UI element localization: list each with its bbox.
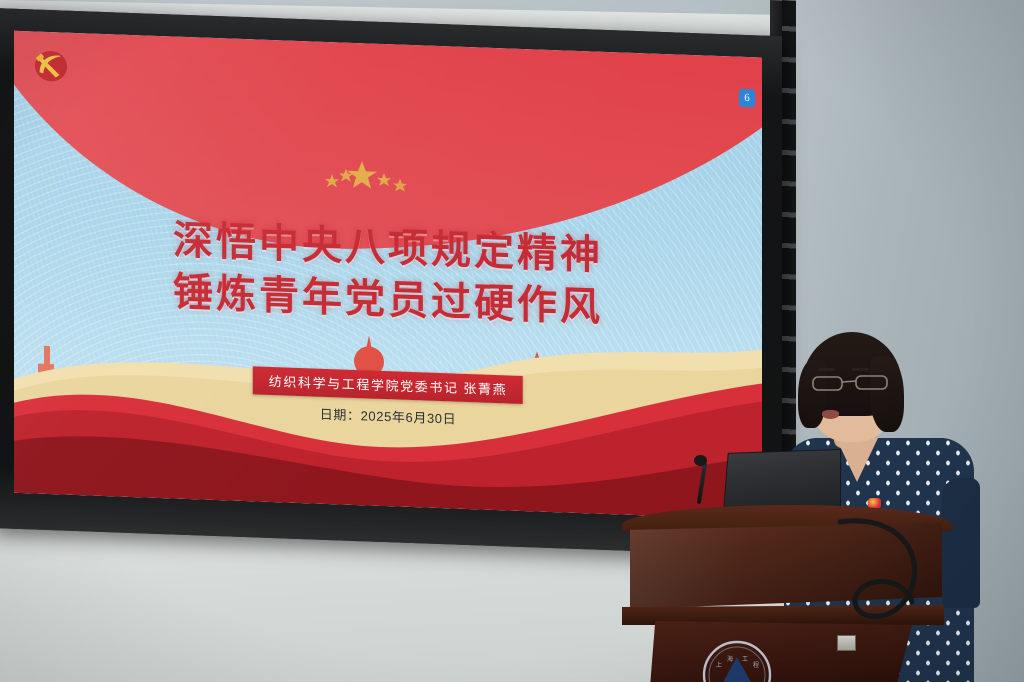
presenter-eyebrow-right [852, 368, 869, 371]
five-gold-stars-icon [310, 151, 420, 201]
microphone-cable [836, 518, 954, 628]
party-emblem-hammer-sickle-icon [32, 47, 70, 84]
wps-app-badge-icon[interactable]: 6 [739, 89, 755, 108]
svg-text:工: 工 [742, 656, 748, 663]
eyeglasses-icon [812, 374, 890, 392]
university-circular-emblem-icon: 上海 工程 [700, 635, 774, 682]
slide-canvas: 深悟中央八项规定精神 锤炼青年党员过硬作风 纺织科学与工程学院党委书记 张菁燕 … [14, 31, 762, 520]
podium-name-plate [837, 635, 856, 651]
podium-column [650, 621, 912, 682]
svg-text:程: 程 [753, 661, 759, 669]
presenter-hair-right [870, 356, 904, 432]
svg-text:上: 上 [716, 661, 722, 669]
presenter-eyebrow-left [818, 368, 835, 371]
presentation-room-photo: 深悟中央八项规定精神 锤炼青年党员过硬作风 纺织科学与工程学院党委书记 张菁燕 … [0, 0, 1024, 682]
presentation-screen[interactable]: 深悟中央八项规定精神 锤炼青年党员过硬作风 纺织科学与工程学院党委书记 张菁燕 … [0, 8, 782, 556]
svg-text:海: 海 [727, 655, 733, 663]
gooseneck-microphone-head-icon [694, 455, 707, 466]
presenter-mouth [822, 410, 839, 419]
laptop-lid[interactable] [724, 450, 840, 512]
